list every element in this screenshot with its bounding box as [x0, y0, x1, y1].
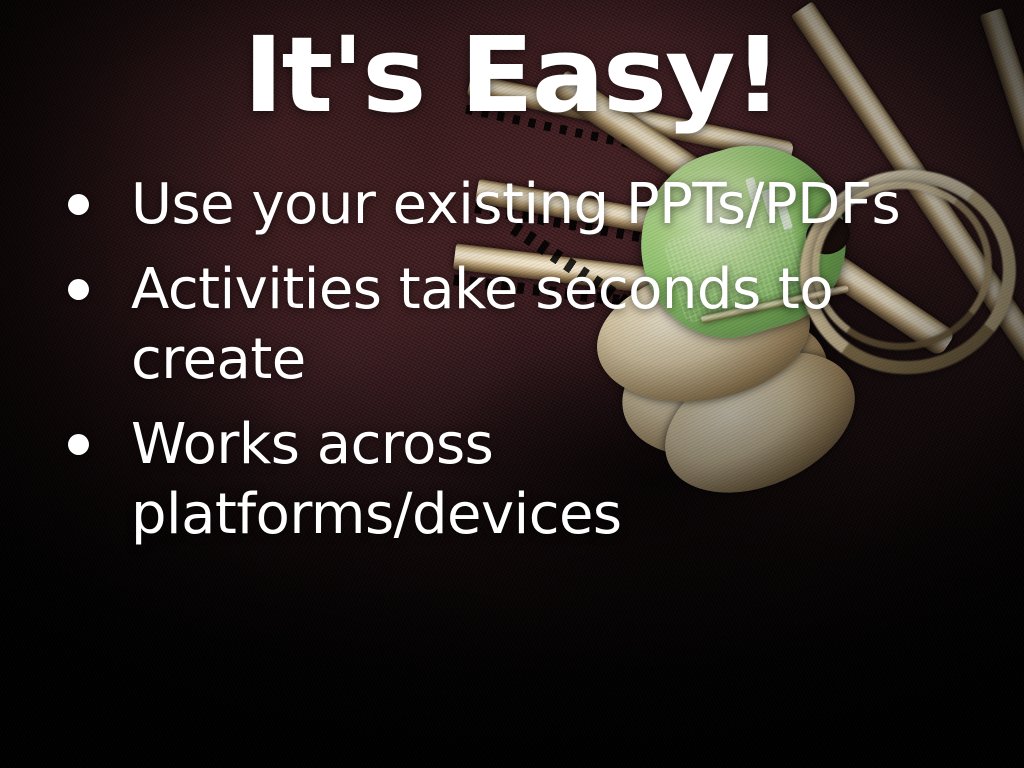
- slide-content: It's Easy! Use your existing PPTs/PDFs A…: [0, 0, 1024, 768]
- bullet-dot-icon: [68, 194, 89, 215]
- bullet-dot-icon: [68, 279, 89, 300]
- bullet-text: Use your existing PPTs/PDFs: [131, 170, 926, 241]
- list-item: Activities take seconds to create: [58, 255, 958, 396]
- bullet-text: Works across platforms/devices: [131, 410, 926, 551]
- presentation-slide: It's Easy! Use your existing PPTs/PDFs A…: [0, 0, 1024, 768]
- list-item: Works across platforms/devices: [58, 410, 958, 551]
- bullet-text: Activities take seconds to create: [131, 255, 926, 396]
- list-item: Use your existing PPTs/PDFs: [58, 170, 958, 241]
- bullet-list: Use your existing PPTs/PDFs Activities t…: [58, 170, 958, 565]
- slide-title: It's Easy!: [0, 22, 1024, 128]
- bullet-dot-icon: [68, 434, 89, 455]
